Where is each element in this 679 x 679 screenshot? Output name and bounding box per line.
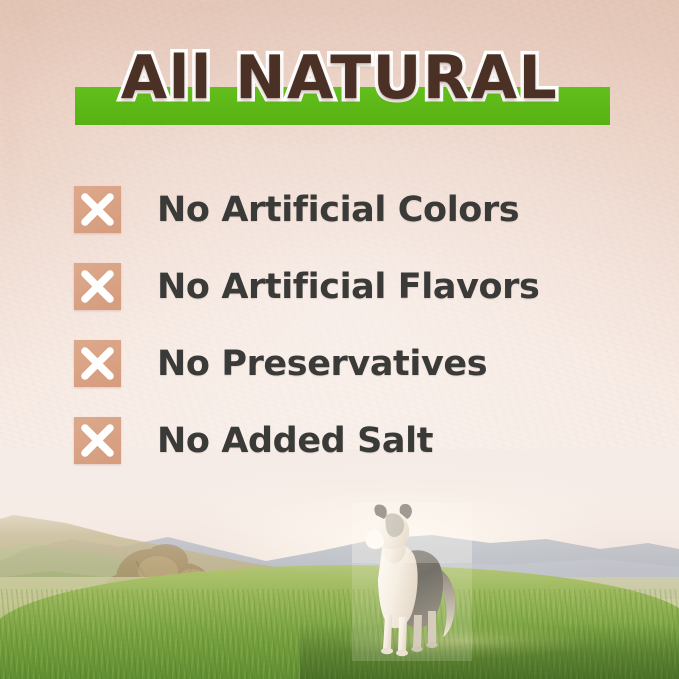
claim-row: No Added Salt [0,402,679,479]
claim-row: No Artificial Colors [0,171,679,248]
claim-row: No Artificial Flavors [0,248,679,325]
page-title: All NATURAL [0,48,679,108]
claims-list: No Artificial Colors No Artificial Flavo… [0,171,679,479]
x-mark-icon [74,340,121,387]
x-mark-icon [74,417,121,464]
claim-label: No Artificial Colors [157,191,519,229]
claim-label: No Added Salt [157,422,433,460]
dog-photo-subject [352,503,472,661]
claim-row: No Preservatives [0,325,679,402]
x-mark-icon [74,263,121,310]
claim-label: No Artificial Flavors [157,268,539,306]
landscape-photo [0,449,679,679]
x-mark-icon [74,186,121,233]
claim-label: No Preservatives [157,345,487,383]
infographic-canvas: All NATURAL No Artificial Colors [0,0,679,679]
border-collie-silhouette [352,503,472,661]
